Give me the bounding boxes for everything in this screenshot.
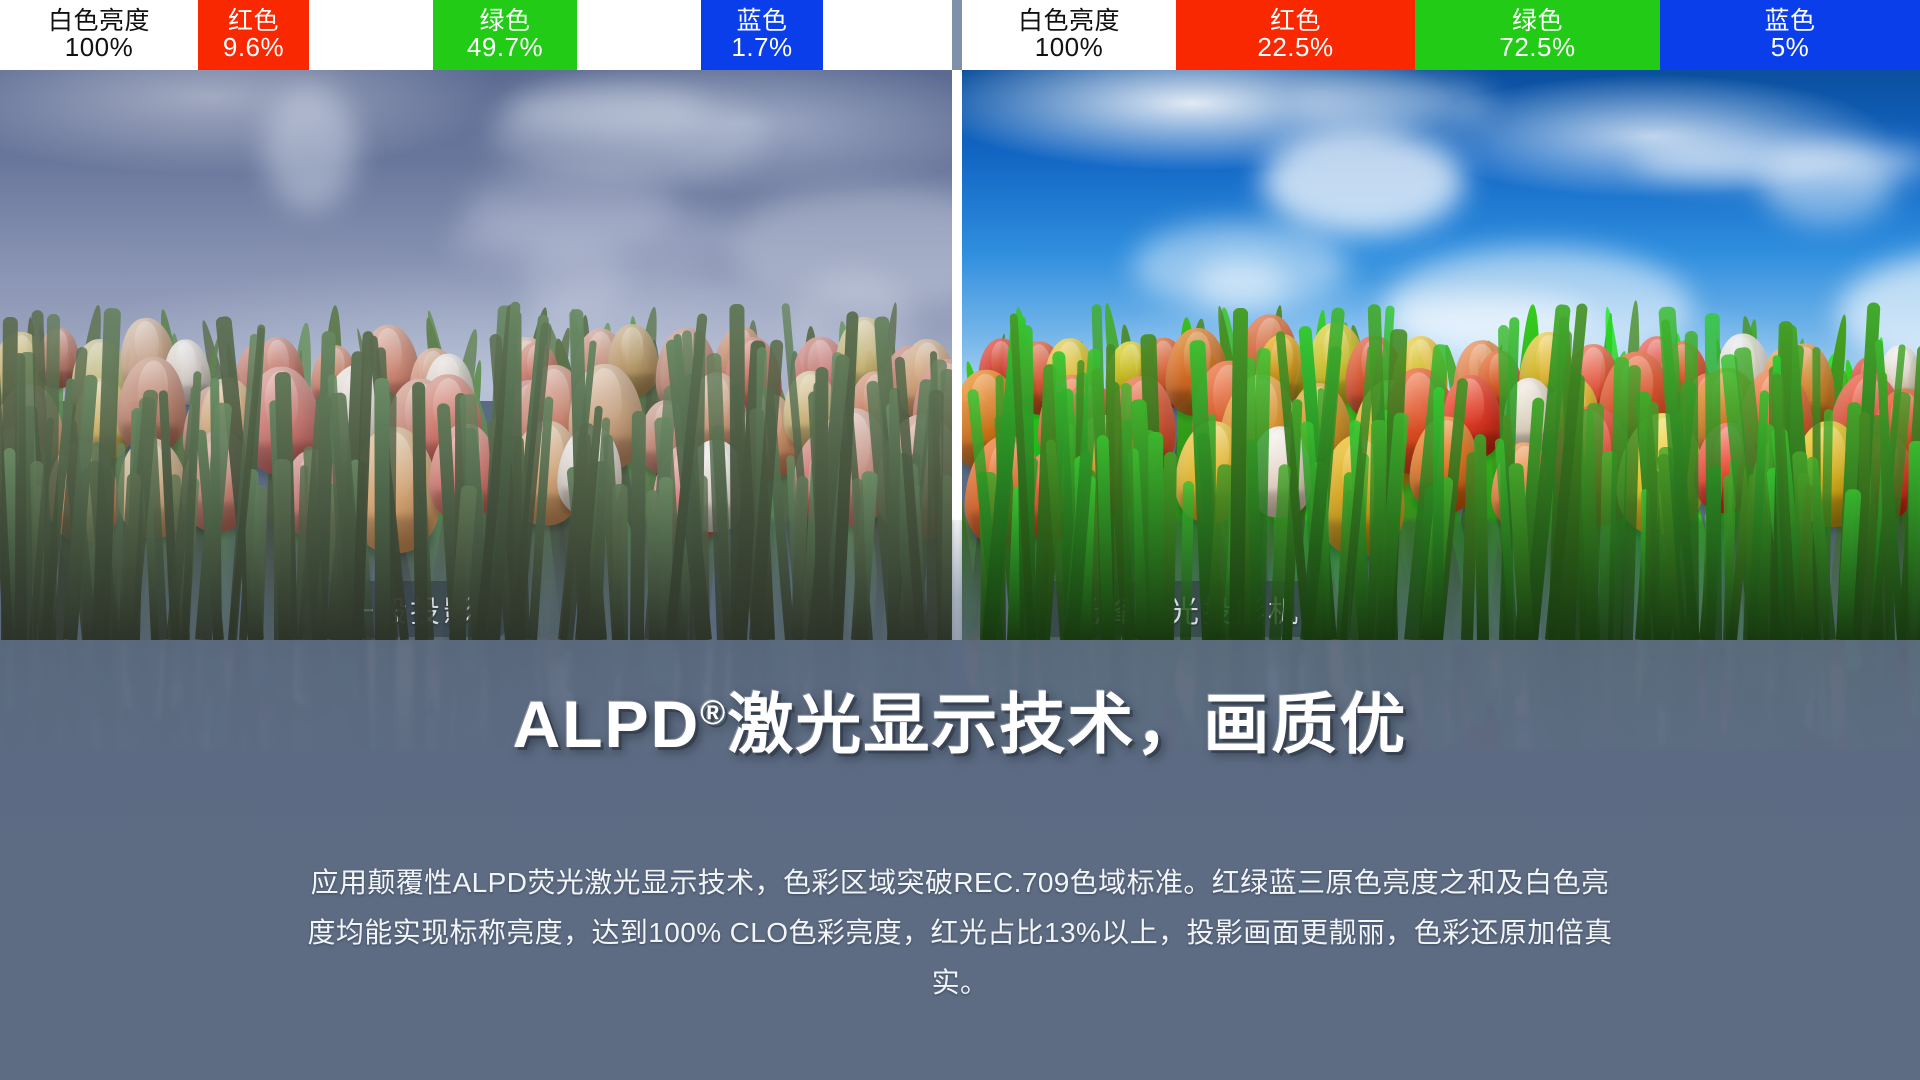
- tulip-stem: [612, 484, 628, 640]
- tulip-stem: [888, 388, 901, 640]
- tulip-stem: [374, 378, 390, 640]
- meter-value: 9.6%: [223, 34, 284, 61]
- cloud: [1133, 222, 1347, 311]
- meter-cell-red: 红色22.5%: [1176, 0, 1415, 70]
- cloud: [1262, 128, 1465, 235]
- tulip-stem: [14, 353, 27, 640]
- meter-cell-blue: 蓝色1.7%: [701, 0, 823, 70]
- meter-label: 白色亮度: [48, 8, 150, 34]
- tulip-field-image-dull: [0, 70, 952, 640]
- tulip-stem: [1859, 412, 1870, 640]
- tulip-field-image-vivid: [962, 70, 1920, 640]
- panel-appotronics-laser-projector: [962, 70, 1920, 640]
- meter-value: 22.5%: [1257, 34, 1333, 61]
- header-divider: [952, 0, 962, 70]
- tulip-stem: [1368, 420, 1387, 640]
- meter-label: 白色亮度: [1018, 8, 1120, 34]
- tulip-stem: [1148, 432, 1163, 640]
- registered-trademark-icon: ®: [700, 694, 727, 732]
- tulip-stem: [926, 390, 944, 640]
- meter-cell-blue: 蓝色5%: [1660, 0, 1920, 70]
- page-title-prefix: ALPD: [513, 687, 701, 761]
- meter-label: 绿色: [479, 8, 530, 34]
- meter-spacer: [309, 0, 433, 70]
- meter-spacer: [577, 0, 701, 70]
- tulip-field-vivid: [962, 298, 1920, 640]
- meter-cell-white: 白色亮度100%: [0, 0, 198, 70]
- meter-cell-red: 红色9.6%: [198, 0, 309, 70]
- meter-value: 1.7%: [731, 34, 792, 61]
- meter-value: 100%: [1035, 34, 1104, 61]
- meter-label: 红色: [1270, 8, 1321, 34]
- meter-cell-green: 绿色72.5%: [1415, 0, 1660, 70]
- promo-banner: 白色亮度100%红色9.6%绿色49.7%蓝色1.7% 白色亮度100%红色22…: [0, 0, 1920, 1080]
- meter-label: 红色: [228, 8, 279, 34]
- meter-label: 蓝色: [736, 8, 787, 34]
- tulip-stem: [630, 411, 646, 640]
- meter-bar-laser: 白色亮度100%红色22.5%绿色72.5%蓝色5%: [962, 0, 1920, 70]
- cloud: [1292, 78, 1493, 128]
- body-description: 应用颠覆性ALPD荧光激光显示技术，色彩区域突破REC.709色域标准。红绿蓝三…: [300, 858, 1620, 1008]
- panel-standard-projection: [0, 70, 952, 640]
- meter-cell-green: 绿色49.7%: [433, 0, 577, 70]
- tulip-stem: [815, 367, 829, 640]
- meter-value: 49.7%: [467, 34, 543, 61]
- meter-label: 蓝色: [1764, 8, 1815, 34]
- meter-label: 绿色: [1512, 8, 1563, 34]
- meter-value: 72.5%: [1499, 34, 1575, 61]
- meter-cell-white: 白色亮度100%: [962, 0, 1176, 70]
- tulip-stem: [1908, 441, 1920, 640]
- tulip-stem: [274, 459, 291, 640]
- meter-value: 5%: [1771, 34, 1810, 61]
- page-title-suffix: 激光显示技术，画质优: [727, 687, 1407, 761]
- tulip-field-dull: [0, 298, 952, 640]
- tulip-stem: [1704, 313, 1721, 640]
- panel-divider: [952, 70, 962, 640]
- cloud: [1762, 147, 1893, 224]
- page-title: ALPD®激光显示技术，画质优: [0, 690, 1920, 759]
- cloud: [464, 166, 676, 253]
- meter-spacer: [823, 0, 952, 70]
- meter-bar-standard: 白色亮度100%红色9.6%绿色49.7%蓝色1.7%: [0, 0, 952, 70]
- cloud: [264, 85, 357, 211]
- tulip-stem: [1432, 387, 1445, 640]
- meter-value: 100%: [65, 34, 134, 61]
